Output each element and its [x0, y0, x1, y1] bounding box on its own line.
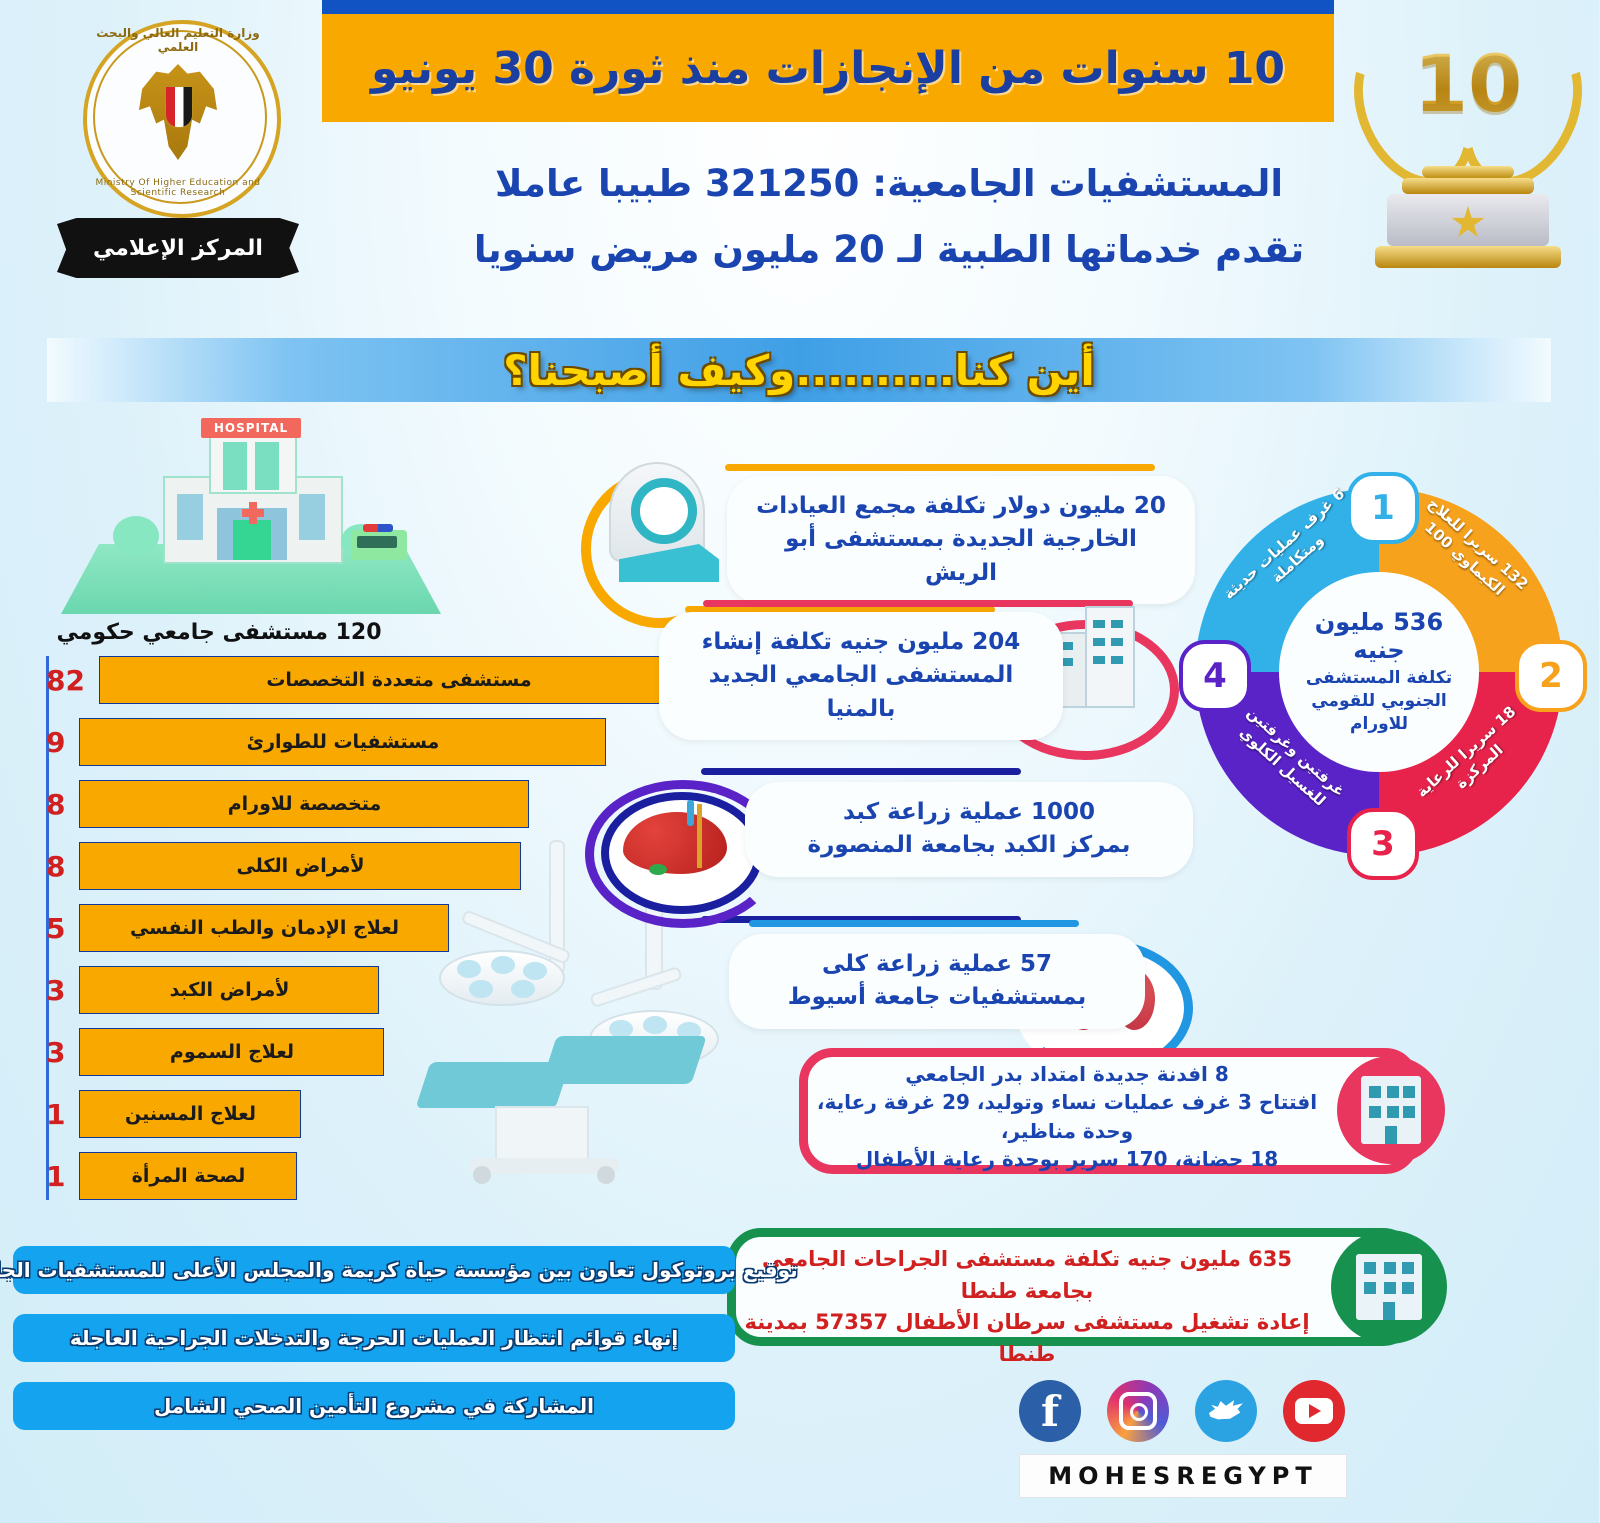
bar-4: لعلاج الإدمان والطب النفسي: [80, 904, 450, 952]
donut-badge-2[interactable]: 2: [1516, 640, 1588, 712]
bar-row: لأمراض الكبد 3: [47, 966, 380, 1014]
donut-badge-4[interactable]: 4: [1180, 640, 1252, 712]
operating-table-section: [542, 1036, 708, 1084]
bar-7: لعلاج المسنين: [80, 1090, 302, 1138]
badr-line-3: 18 حضانة، 170 سرير بوحدة رعاية الأطفال: [816, 1145, 1320, 1173]
trophy-tier-2: [1403, 178, 1535, 194]
bar-value-2: 8: [47, 788, 66, 821]
bar-label-5: لأمراض الكبد: [171, 979, 291, 1001]
bile-duct-icon: [698, 804, 703, 868]
bullet-strip-1-text: إنهاء قوائم انتظار العمليات الحرجة والتد…: [71, 1326, 679, 1350]
callout-minya-bubble: 204 مليون جنيه تكلفة إنشاء المستشفى الجا…: [660, 612, 1064, 740]
bullet-strip-2-text: المشاركة في مشروع التأمين الصحي الشامل: [155, 1394, 595, 1418]
bar-label-8: لصحة المرأة: [133, 1165, 247, 1187]
youtube-icon[interactable]: [1284, 1380, 1346, 1442]
callout-kidney-bubble: 57 عملية زراعة كلى بمستشفيات جامعة أسيوط: [730, 934, 1146, 1029]
badr-line-2: افتتاح 3 غرف عمليات نساء وتوليد، 29 غرفة…: [816, 1088, 1320, 1145]
bar-2: متخصصة للاورام: [80, 780, 530, 828]
hospital-window: [256, 442, 280, 490]
callout-rule-top: [750, 920, 1080, 927]
bar-row: لعلاج السموم 3: [47, 1028, 385, 1076]
social-handle-box: MOHESREGYPT: [1020, 1454, 1348, 1498]
bar-value-3: 8: [47, 850, 66, 883]
table-wheel: [474, 1166, 492, 1184]
bullet-strip-1[interactable]: إنهاء قوائم انتظار العمليات الحرجة والتد…: [14, 1314, 736, 1362]
hospital-window: [224, 442, 248, 490]
lamp-arm: [590, 966, 684, 1008]
callout-rule-top: [726, 464, 1156, 471]
badr-hospital-icon: [1338, 1056, 1446, 1164]
gallbladder-icon: [650, 864, 668, 875]
callout-liver-line-1: 1000 عملية زراعة كبد: [770, 796, 1170, 829]
ambulance-light-icon: [364, 524, 394, 532]
callout-mri-bubble: 20 مليون دولار تكلفة مجمع العيادات الخار…: [728, 476, 1196, 604]
logo-english-ring-text: Ministry Of Higher Education and Scienti…: [82, 178, 276, 198]
ministry-logo: وزارة التعليم العالي والبحث العلمي Minis…: [48, 12, 310, 294]
callout-minya-line-2: المستشفى الجامعي الجديد بالمنيا: [684, 659, 1040, 726]
header-title-bar: 10 سنوات من الإنجازات منذ ثورة 30 يونيو: [323, 14, 1335, 122]
callout-mri-line-1: 20 مليون دولار تكلفة مجمع العيادات: [752, 490, 1172, 523]
social-handle: MOHESREGYPT: [1049, 1462, 1318, 1490]
bar-value-1: 9: [47, 726, 66, 759]
section-banner-text: أين كنا..........وكيف أصبحنا؟: [504, 346, 1095, 395]
callout-liver: 1000 عملية زراعة كبد بمركز الكبد بجامعة …: [576, 756, 1176, 936]
bullet-strip-0[interactable]: توقيع بروتوكول تعاون بين مؤسسة حياة كريم…: [14, 1246, 736, 1294]
oncology-hospital-donut-chart: 6 غرف عمليات حديثة ومتكاملة 132 سريرا لل…: [1196, 488, 1564, 856]
logo-ribbon: المركز الإعلامي: [58, 218, 300, 278]
tanta-hospital-box: 635 مليون جنيه تكلفة مستشفى الجراحات الج…: [728, 1228, 1418, 1346]
table-wheel: [598, 1166, 616, 1184]
tanta-line-1: 635 مليون جنيه تكلفة مستشفى الجراحات الج…: [744, 1244, 1312, 1307]
egypt-flag-shield-icon: [166, 86, 194, 128]
donut-center: 536 مليون جنيه تكلفة المستشفى الجنوبي لل…: [1280, 572, 1480, 772]
surgical-lamp-icon: [440, 950, 566, 1006]
mri-bore-icon: [632, 478, 698, 544]
bar-label-2: متخصصة للاورام: [229, 793, 383, 815]
hospital-building-illustration: HOSPITAL: [52, 424, 452, 624]
callout-minya-line-1: 204 مليون جنيه تكلفة إنشاء: [684, 626, 1040, 659]
bar-value-0: 82: [47, 664, 86, 697]
twitter-icon[interactable]: [1196, 1380, 1258, 1442]
social-footer: f MOHESREGYPT: [1000, 1380, 1370, 1508]
badr-line-1: 8 افدنة جديدة امتداد بدر الجامعي: [816, 1060, 1320, 1088]
tanta-hospital-icon: [1332, 1230, 1448, 1344]
header-top-band: [323, 0, 1335, 14]
callout-liver-bubble: 1000 عملية زراعة كبد بمركز الكبد بجامعة …: [746, 782, 1194, 877]
ambulance-window: [358, 536, 398, 548]
bar-label-4: لعلاج الإدمان والطب النفسي: [131, 917, 400, 939]
subtitle-doctors: المستشفيات الجامعية: 321250 طبيبا عاملا: [440, 162, 1340, 205]
bullet-strip-2[interactable]: المشاركة في مشروع التأمين الصحي الشامل: [14, 1382, 736, 1430]
callout-mri-line-2: الخارجية الجديدة بمستشفى أبو الريش: [752, 523, 1172, 590]
bar-row: متخصصة للاورام 8: [47, 780, 530, 828]
bar-value-6: 3: [47, 1036, 66, 1069]
operating-table-base: [496, 1106, 590, 1166]
bar-row: مستشفيات للطوارئ 9: [47, 718, 607, 766]
tanta-box-text: 635 مليون جنيه تكلفة مستشفى الجراحات الج…: [744, 1244, 1312, 1370]
medical-cross-icon: [243, 509, 265, 517]
donut-center-subtext: تكلفة المستشفى الجنوبي للقومي للاورام: [1288, 667, 1472, 736]
tree-icon: [114, 516, 160, 556]
donut-badge-1[interactable]: 1: [1348, 472, 1420, 544]
bar-1: مستشفيات للطوارئ: [80, 718, 607, 766]
bar-label-0: مستشفى متعددة التخصصات: [267, 669, 532, 691]
chart-title: 120 مستشفى جامعي حكومي: [20, 620, 420, 645]
subtitle-patients: تقدم خدماتها الطبية لـ 20 مليون مريض سنو…: [440, 228, 1340, 271]
hospital-window: [300, 494, 326, 540]
bar-row: لعلاج المسنين 1: [47, 1090, 302, 1138]
bar-row: لصحة المرأة 1: [47, 1152, 298, 1200]
callout-liver-line-2: بمركز الكبد بجامعة المنصورة: [770, 829, 1170, 862]
callout-mri: 20 مليون دولار تكلفة مجمع العيادات الخار…: [576, 440, 1176, 620]
logo-arabic-ring-text: وزارة التعليم العالي والبحث العلمي: [94, 26, 264, 54]
infographic-canvas: 10 سنوات من الإنجازات منذ ثورة 30 يونيو …: [0, 0, 1600, 1523]
callout-kidney-line-2: بمستشفيات جامعة أسيوط: [754, 981, 1122, 1014]
bar-label-3: لأمراض الكلى: [237, 855, 365, 877]
instagram-icon[interactable]: [1108, 1380, 1170, 1442]
bar-row: لعلاج الإدمان والطب النفسي 5: [47, 904, 450, 952]
bar-8: لصحة المرأة: [80, 1152, 298, 1200]
bar-label-1: مستشفيات للطوارئ: [248, 731, 441, 753]
trophy-tier-1: [1423, 166, 1515, 178]
page-title: 10 سنوات من الإنجازات منذ ثورة 30 يونيو: [372, 43, 1286, 94]
bar-0: مستشفى متعددة التخصصات: [100, 656, 700, 704]
callout-rule-top: [702, 768, 1022, 775]
bar-value-8: 1: [47, 1160, 66, 1193]
section-banner: أين كنا..........وكيف أصبحنا؟: [48, 338, 1552, 402]
bar-value-4: 5: [47, 912, 66, 945]
trophy-base: [1376, 246, 1562, 268]
badr-hospital-box: 8 افدنة جديدة امتداد بدر الجامعي افتتاح …: [800, 1048, 1420, 1174]
hospital-door: [234, 520, 272, 560]
badr-box-text: 8 افدنة جديدة امتداد بدر الجامعي افتتاح …: [816, 1060, 1320, 1174]
anniversary-trophy-icon: 10: [1340, 6, 1598, 298]
logo-ribbon-label: المركز الإعلامي: [94, 236, 264, 261]
bullet-strip-0-text: توقيع بروتوكول تعاون بين مؤسسة حياة كريم…: [0, 1258, 799, 1282]
bar-6: لعلاج السموم: [80, 1028, 385, 1076]
bar-row: مستشفى متعددة التخصصات 82: [47, 656, 700, 704]
bar-value-7: 1: [47, 1098, 66, 1131]
facebook-icon[interactable]: f: [1020, 1380, 1082, 1442]
hepatic-vein-icon: [688, 800, 695, 826]
hospital-sign: HOSPITAL: [202, 418, 302, 438]
bar-label-6: لعلاج السموم: [171, 1041, 295, 1063]
hospital-window: [178, 494, 204, 540]
facebook-glyph: f: [1042, 1387, 1060, 1436]
callout-kidney-line-1: 57 عملية زراعة كلى: [754, 948, 1122, 981]
bar-value-5: 3: [47, 974, 66, 1007]
callout-minya: 204 مليون جنيه تكلفة إنشاء المستشفى الجا…: [660, 600, 1180, 760]
bar-5: لأمراض الكبد: [80, 966, 380, 1014]
donut-center-headline: 536 مليون جنيه: [1288, 608, 1472, 664]
trophy-number: 10: [1340, 40, 1598, 130]
donut-badge-3[interactable]: 3: [1348, 808, 1420, 880]
tanta-line-2: إعادة تشغيل مستشفى سرطان الأطفال 57357 ب…: [744, 1307, 1312, 1370]
bar-label-7: لعلاج المسنين: [126, 1103, 257, 1125]
